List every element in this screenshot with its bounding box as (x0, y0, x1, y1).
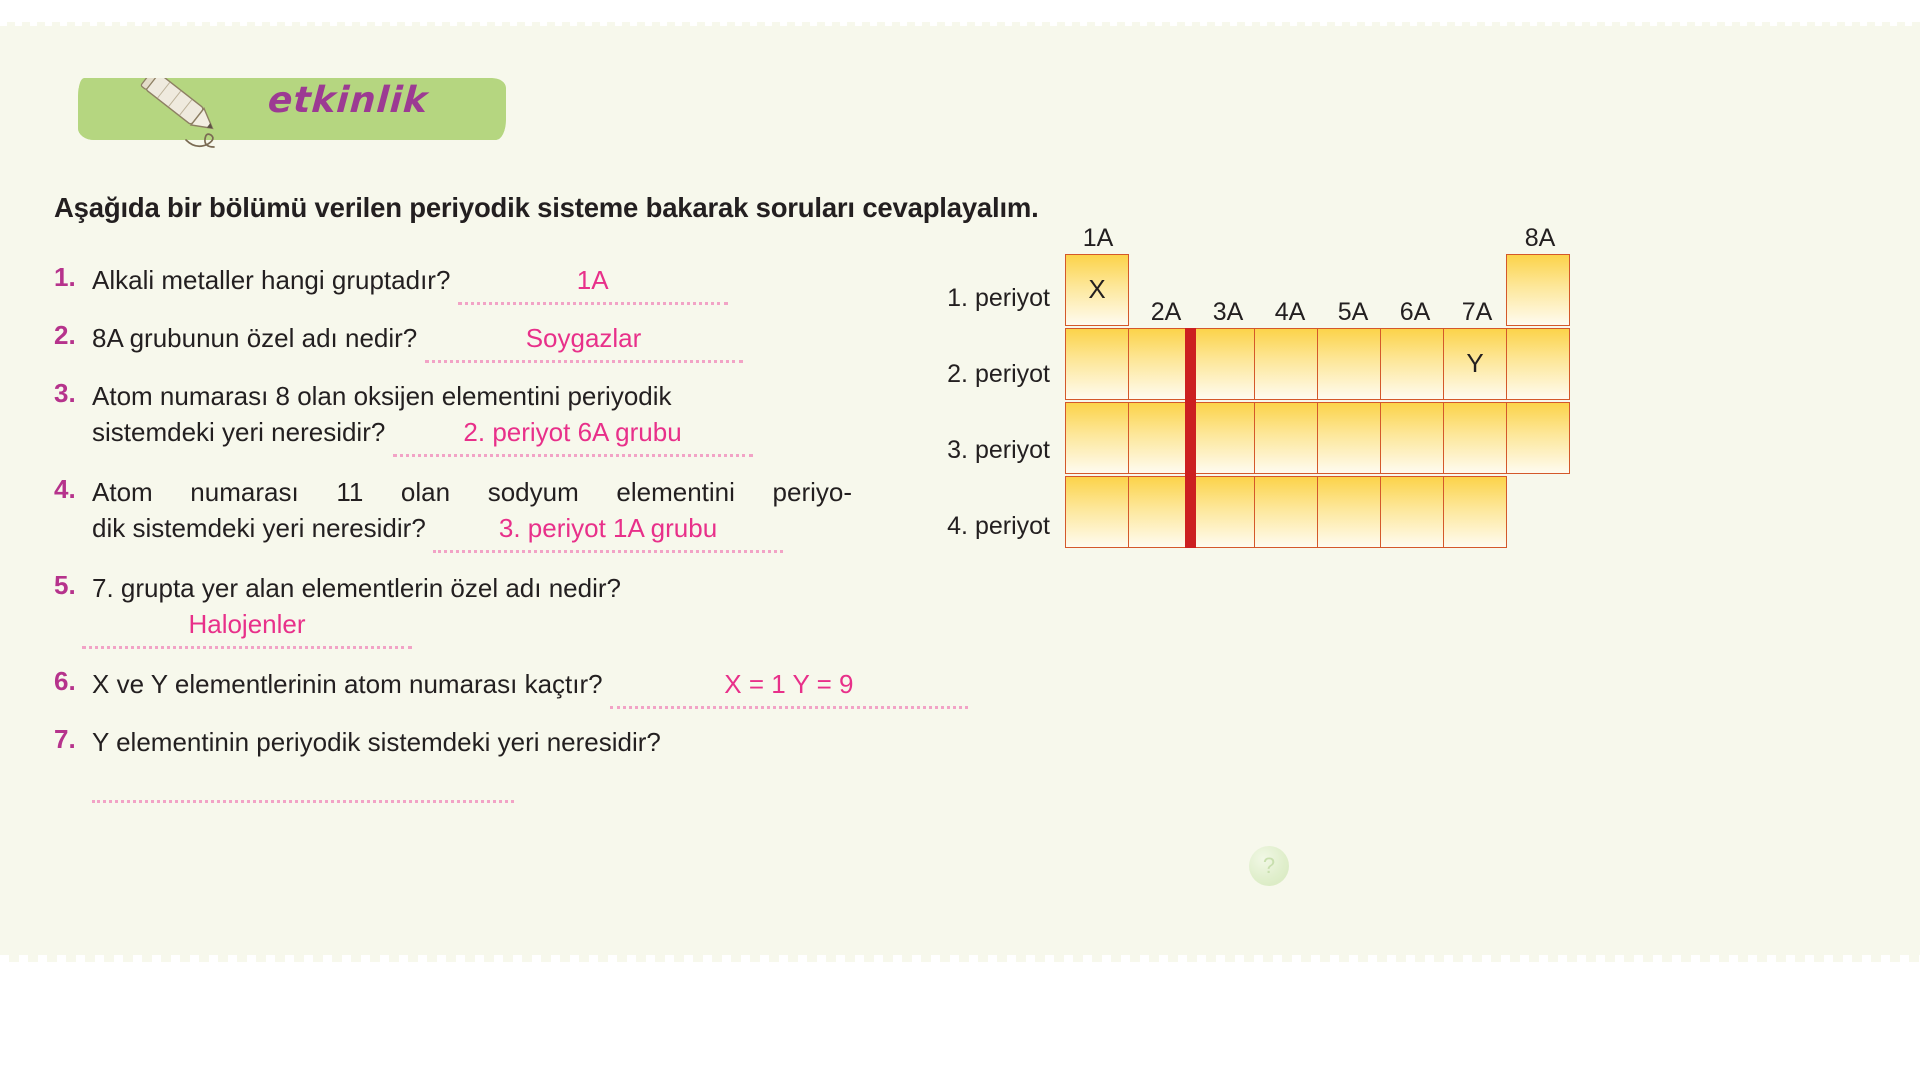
cell-p2-5A[interactable] (1317, 328, 1381, 400)
question-text-3-line1: Atom numarası 8 olan oksijen elementini … (92, 378, 1054, 414)
question-text-6: X ve Y elementlerinin atom numarası kaçt… (92, 669, 603, 699)
cell-p2-1A[interactable] (1065, 328, 1129, 400)
question-text-4-line1: Atom numarası 11 olan sodyum elementini … (92, 474, 852, 510)
answer-value-2: Soygazlar (425, 320, 743, 356)
cell-p1-1A[interactable]: X (1065, 254, 1129, 326)
banner-title: etkinlik (267, 80, 430, 121)
question-item-4: 4. Atom numarası 11 olan sodyum elementi… (54, 474, 1054, 570)
answer-value-4: 3. periyot 1A grubu (433, 510, 783, 546)
activity-banner: etkinlik (78, 78, 506, 140)
answer-value-5: Halojenler (82, 606, 412, 642)
cell-p4-4A[interactable] (1254, 476, 1318, 548)
group-label-1A: 1A (1053, 224, 1143, 253)
cell-p4-3A[interactable] (1191, 476, 1255, 548)
question-item-1: 1. Alkali metaller hangi gruptadır? 1A (54, 262, 1054, 320)
question-item-5: 5. 7. grupta yer alan elementlerin özel … (54, 570, 1054, 666)
cell-p4-2A[interactable] (1128, 476, 1192, 548)
question-mark-icon: ? (1249, 846, 1289, 886)
cell-p4-6A[interactable] (1380, 476, 1444, 548)
answer-field-4[interactable]: 3. periyot 1A grubu (433, 510, 783, 546)
question-number-6: 6. (54, 666, 84, 697)
answer-field-2[interactable]: Soygazlar (425, 320, 743, 356)
cell-p3-8A[interactable] (1506, 402, 1570, 474)
period-label-1: 1. periyot (920, 284, 1050, 313)
question-item-6: 6. X ve Y elementlerinin atom numarası k… (54, 666, 1054, 724)
answer-field-3[interactable]: 2. periyot 6A grubu (393, 414, 753, 450)
cell-p3-5A[interactable] (1317, 402, 1381, 474)
metal-nonmetal-divider (1185, 328, 1196, 548)
question-item-3: 3. Atom numarası 8 olan oksijen elementi… (54, 378, 1054, 474)
question-number-2: 2. (54, 320, 84, 351)
answer-field-7[interactable] (92, 760, 514, 796)
question-number-5: 5. (54, 570, 84, 601)
group-label-8A: 8A (1495, 224, 1585, 253)
cell-p2-7A[interactable]: Y (1443, 328, 1507, 400)
cell-p3-7A[interactable] (1443, 402, 1507, 474)
answer-field-1[interactable]: 1A (458, 262, 728, 298)
element-symbol-Y: Y (1444, 348, 1506, 379)
cell-p4-7A[interactable] (1443, 476, 1507, 548)
cell-p2-3A[interactable] (1191, 328, 1255, 400)
cell-p3-2A[interactable] (1128, 402, 1192, 474)
answer-value-1: 1A (458, 262, 728, 298)
answer-field-6[interactable]: X = 1 Y = 9 (610, 666, 968, 702)
question-text-7: Y elementinin periyodik sistemdeki yeri … (92, 727, 661, 757)
question-text-2: 8A grubunun özel adı nedir? (92, 323, 417, 353)
cell-p1-8A[interactable] (1506, 254, 1570, 326)
question-number-4: 4. (54, 474, 84, 505)
cell-p3-1A[interactable] (1065, 402, 1129, 474)
cell-p2-4A[interactable] (1254, 328, 1318, 400)
period-label-2: 2. periyot (920, 360, 1050, 389)
period-label-4: 4. periyot (920, 512, 1050, 541)
question-number-7: 7. (54, 724, 84, 755)
period-label-3: 3. periyot (920, 436, 1050, 465)
cell-p3-3A[interactable] (1191, 402, 1255, 474)
cell-p3-6A[interactable] (1380, 402, 1444, 474)
question-text-5: 7. grupta yer alan elementlerin özel adı… (92, 570, 1054, 606)
cell-p2-6A[interactable] (1380, 328, 1444, 400)
pencil-icon (124, 78, 244, 156)
question-text-1: Alkali metaller hangi gruptadır? (92, 265, 450, 295)
answer-field-5[interactable]: Halojenler (82, 606, 412, 642)
instruction-text: Aşağıda bir bölümü verilen periyodik sis… (54, 192, 1039, 224)
answer-value-6: X = 1 Y = 9 (610, 666, 968, 702)
question-mark-watermark: ? (1249, 846, 1289, 886)
cell-p4-1A[interactable] (1065, 476, 1129, 548)
question-item-2: 2. 8A grubunun özel adı nedir? Soygazlar (54, 320, 1054, 378)
question-number-3: 3. (54, 378, 84, 409)
question-list: 1. Alkali metaller hangi gruptadır? 1A 2… (54, 262, 1054, 782)
question-text-3-line2: sistemdeki yeri neresidir? (92, 417, 385, 447)
periodic-table-diagram: 1. periyot 2. periyot 3. periyot 4. peri… (1065, 252, 1625, 532)
question-number-1: 1. (54, 262, 84, 293)
cell-p2-8A[interactable] (1506, 328, 1570, 400)
question-text-4-line2: dik sistemdeki yeri neresidir? (92, 513, 426, 543)
cell-p4-5A[interactable] (1317, 476, 1381, 548)
question-item-7: 7. Y elementinin periyodik sistemdeki ye… (54, 724, 1054, 782)
cell-p2-2A[interactable] (1128, 328, 1192, 400)
element-symbol-X: X (1066, 274, 1128, 305)
answer-value-3: 2. periyot 6A grubu (393, 414, 753, 450)
cell-p3-4A[interactable] (1254, 402, 1318, 474)
